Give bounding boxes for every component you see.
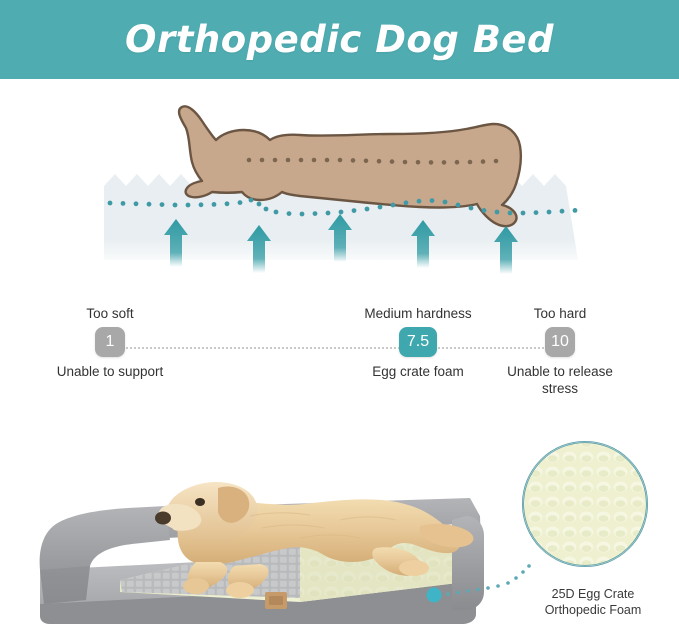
scale-top-label: Medium hardness — [352, 306, 484, 321]
scale-top-label: Too soft — [44, 306, 176, 321]
scale-track — [110, 347, 560, 349]
scale-badge-value[interactable]: 7.5 — [399, 327, 437, 357]
scale-bottom-label: Unable to support — [44, 364, 176, 381]
scale-bottom-label: Egg crate foam — [352, 364, 484, 381]
firmness-scale: Too soft 1 Unable to support Medium hard… — [0, 300, 679, 400]
foam-closeup-circle — [523, 442, 647, 566]
scale-node-too-hard[interactable]: Too hard 10 Unable to release stress — [495, 306, 625, 398]
scale-badge-value[interactable]: 10 — [545, 327, 575, 357]
scale-badge-value[interactable]: 1 — [95, 327, 125, 357]
support-diagram — [0, 88, 679, 288]
scale-node-too-soft[interactable]: Too soft 1 Unable to support — [44, 306, 176, 381]
page-title: Orthopedic Dog Bed — [0, 0, 679, 79]
foam-closeup-label: 25D Egg Crate Orthopedic Foam — [512, 586, 674, 619]
scale-top-label: Too hard — [495, 306, 625, 321]
scale-node-medium-hardness[interactable]: Medium hardness 7.5 Egg crate foam — [352, 306, 484, 381]
scale-bottom-label: Unable to release stress — [495, 364, 625, 398]
foam-label-line2: Orthopedic Foam — [512, 602, 674, 618]
foam-label-line1: 25D Egg Crate — [512, 586, 674, 602]
brand-tag-badge — [265, 592, 287, 609]
